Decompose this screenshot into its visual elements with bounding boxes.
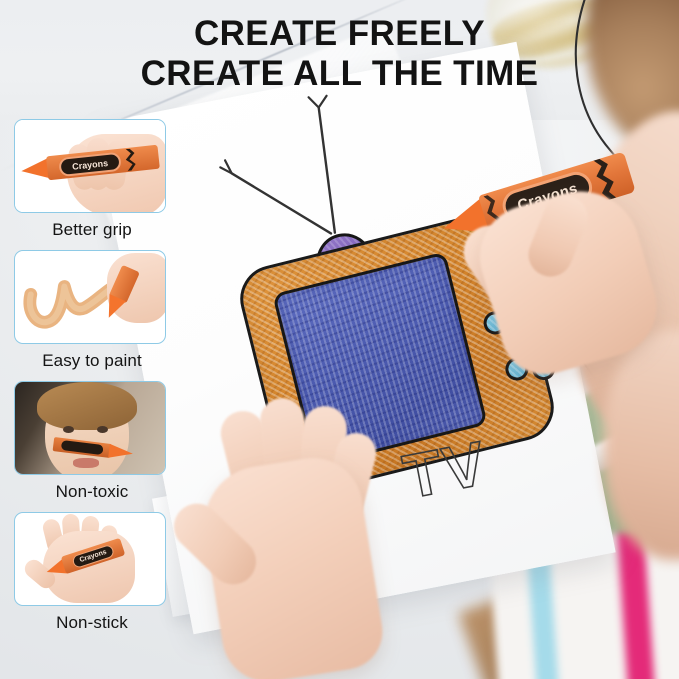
eye — [97, 426, 108, 433]
crayon-tip — [108, 444, 134, 461]
product-marketing-image: TV Crayons — [0, 0, 679, 679]
feature-better-grip: Crayons Better grip — [14, 119, 170, 243]
feature-non-toxic: Non-toxic — [14, 381, 170, 505]
feature-non-stick: Crayons Non-stick — [14, 512, 170, 636]
feature-caption: Non-stick — [14, 606, 170, 636]
feature-caption: Non-toxic — [14, 475, 170, 505]
feature-caption: Better grip — [14, 213, 170, 243]
headline: CREATE FREELY CREATE ALL THE TIME — [0, 14, 679, 93]
feature-image-better-grip: Crayons — [14, 119, 166, 213]
feature-image-easy-to-paint — [14, 250, 166, 344]
feature-easy-to-paint: Easy to paint — [14, 250, 170, 374]
crayon-label-text: Crayons — [72, 158, 109, 172]
child-right-hand — [440, 170, 670, 400]
feature-image-non-toxic — [14, 381, 166, 475]
feature-list: Crayons Better grip Easy to paint — [14, 119, 170, 643]
headline-line-1: CREATE FREELY — [0, 14, 679, 54]
feature-caption: Easy to paint — [14, 344, 170, 374]
child-hair — [37, 382, 137, 430]
child-left-hand — [178, 392, 388, 679]
mouth — [73, 458, 99, 468]
tv-word-outline: TV — [399, 433, 493, 510]
headline-line-2: CREATE ALL THE TIME — [0, 54, 679, 94]
feature-image-non-stick: Crayons — [14, 512, 166, 606]
eye — [63, 426, 74, 433]
